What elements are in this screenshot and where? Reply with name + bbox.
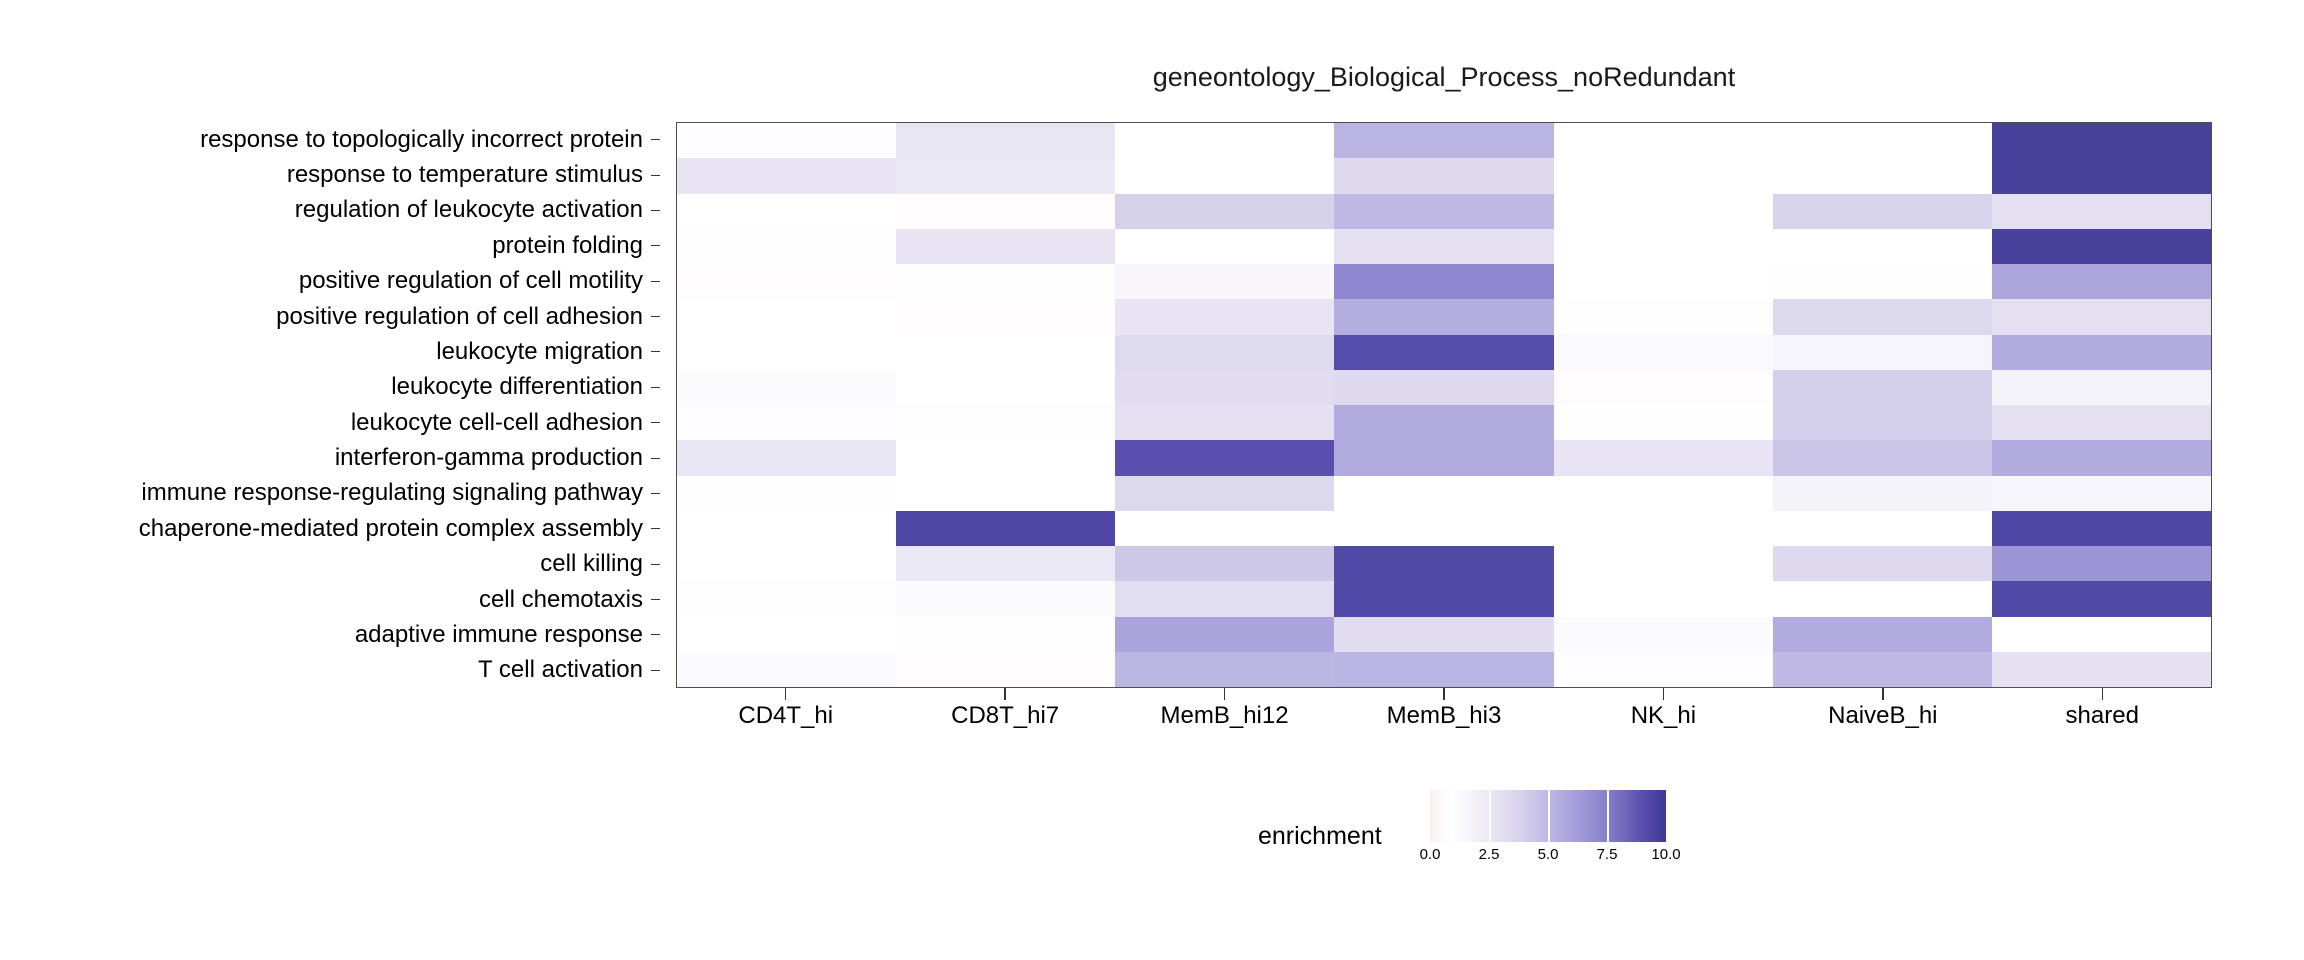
heatmap-cell[interactable] <box>1334 546 1553 581</box>
colorbar-separator <box>1489 790 1491 842</box>
x-tick-mark <box>785 688 786 700</box>
y-tick-mark <box>651 493 660 494</box>
x-tick-slot <box>1334 688 1553 700</box>
heatmap-cell[interactable] <box>1115 546 1334 581</box>
heatmap-cell[interactable] <box>1773 299 1992 334</box>
heatmap-cell[interactable] <box>1115 335 1334 370</box>
heatmap-cell[interactable] <box>896 581 1115 616</box>
heatmap-cell[interactable] <box>1992 405 2211 440</box>
heatmap-cell[interactable] <box>1992 123 2211 158</box>
heatmap-row <box>677 581 2211 616</box>
y-axis-row: regulation of leukocyte activation <box>0 193 660 228</box>
y-axis-label: positive regulation of cell motility <box>299 269 643 293</box>
heatmap-cell[interactable] <box>1115 440 1334 475</box>
heatmap-cell[interactable] <box>1115 194 1334 229</box>
heatmap-row <box>677 299 2211 334</box>
heatmap-cell[interactable] <box>677 581 896 616</box>
heatmap-cell[interactable] <box>677 546 896 581</box>
heatmap-cell[interactable] <box>1554 652 1773 687</box>
y-axis-label: chaperone-mediated protein complex assem… <box>139 517 643 541</box>
y-tick-mark <box>651 634 660 635</box>
legend: enrichment 0.02.55.07.510.0 <box>1258 790 1698 880</box>
y-tick-mark <box>651 316 660 317</box>
heatmap-cell[interactable] <box>1554 335 1773 370</box>
heatmap-cell[interactable] <box>1554 264 1773 299</box>
y-axis-row: leukocyte differentiation <box>0 370 660 405</box>
heatmap-row <box>677 264 2211 299</box>
heatmap-cell[interactable] <box>1992 476 2211 511</box>
page-title: geneontology_Biological_Process_noRedund… <box>676 62 2212 93</box>
heatmap-cell[interactable] <box>896 335 1115 370</box>
heatmap-cell[interactable] <box>1554 581 1773 616</box>
heatmap-cell[interactable] <box>677 511 896 546</box>
heatmap-cell[interactable] <box>1992 264 2211 299</box>
heatmap-cell[interactable] <box>677 229 896 264</box>
heatmap-cell[interactable] <box>1992 652 2211 687</box>
heatmap-cell[interactable] <box>1115 511 1334 546</box>
y-tick-mark <box>651 175 660 176</box>
heatmap-cell[interactable] <box>1334 511 1553 546</box>
heatmap-cell[interactable] <box>1334 335 1553 370</box>
x-tick-marks <box>676 688 2212 700</box>
heatmap-row <box>677 652 2211 687</box>
y-tick-mark <box>651 528 660 529</box>
colorbar-tick-label: 0.0 <box>1420 846 1441 863</box>
y-axis-label: cell killing <box>540 552 643 576</box>
x-axis: CD4T_hiCD8T_hi7MemB_hi12MemB_hi3NK_hiNai… <box>676 688 2212 748</box>
x-tick-mark <box>1663 688 1664 700</box>
heatmap-cell[interactable] <box>896 264 1115 299</box>
heatmap-cell[interactable] <box>1115 405 1334 440</box>
heatmap-cell[interactable] <box>1115 652 1334 687</box>
heatmap-cell[interactable] <box>1773 264 1992 299</box>
heatmap-cell[interactable] <box>896 229 1115 264</box>
heatmap-cell[interactable] <box>1773 370 1992 405</box>
heatmap-panel <box>676 122 2212 688</box>
heatmap-cell[interactable] <box>1334 299 1553 334</box>
x-tick-mark <box>2102 688 2103 700</box>
heatmap-cell[interactable] <box>896 158 1115 193</box>
x-tick-slot <box>1773 688 1992 700</box>
heatmap-cell[interactable] <box>1992 370 2211 405</box>
y-axis-label: regulation of leukocyte activation <box>295 198 643 222</box>
heatmap-cell[interactable] <box>1992 158 2211 193</box>
x-axis-label: MemB_hi12 <box>1115 702 1334 730</box>
y-axis-label: T cell activation <box>478 658 643 682</box>
heatmap-cell[interactable] <box>1334 229 1553 264</box>
heatmap-cell[interactable] <box>1773 123 1992 158</box>
heatmap-cell[interactable] <box>1334 476 1553 511</box>
heatmap-cell[interactable] <box>1773 229 1992 264</box>
heatmap-cell[interactable] <box>1334 405 1553 440</box>
heatmap-cell[interactable] <box>1554 370 1773 405</box>
y-tick-mark <box>651 670 660 671</box>
x-axis-label: shared <box>1993 702 2212 730</box>
y-tick-mark <box>651 599 660 600</box>
heatmap-cell[interactable] <box>677 476 896 511</box>
y-axis-row: leukocyte migration <box>0 334 660 369</box>
heatmap-row <box>677 370 2211 405</box>
heatmap-cell[interactable] <box>896 440 1115 475</box>
heatmap-cell[interactable] <box>1773 617 1992 652</box>
heatmap-row <box>677 229 2211 264</box>
colorbar-tick-label: 10.0 <box>1651 846 1680 863</box>
y-axis-row: chaperone-mediated protein complex assem… <box>0 511 660 546</box>
y-axis-label: interferon-gamma production <box>335 446 643 470</box>
colorbar-tick-labels: 0.02.55.07.510.0 <box>1430 846 1666 870</box>
y-tick-mark <box>651 387 660 388</box>
colorbar-tick-label: 7.5 <box>1597 846 1618 863</box>
y-tick-mark <box>651 422 660 423</box>
heatmap-cell[interactable] <box>1115 581 1334 616</box>
heatmap-cell[interactable] <box>1115 264 1334 299</box>
heatmap-row <box>677 546 2211 581</box>
heatmap-cell[interactable] <box>1992 229 2211 264</box>
y-tick-mark <box>651 210 660 211</box>
heatmap-cell[interactable] <box>1773 335 1992 370</box>
x-axis-label: NK_hi <box>1554 702 1773 730</box>
heatmap-cell[interactable] <box>1334 194 1553 229</box>
x-tick-mark <box>1004 688 1005 700</box>
heatmap-cell[interactable] <box>1992 335 2211 370</box>
colorbar <box>1430 790 1666 842</box>
heatmap-cell[interactable] <box>1115 299 1334 334</box>
heatmap-cell[interactable] <box>1554 158 1773 193</box>
x-axis-label: NaiveB_hi <box>1773 702 1992 730</box>
heatmap-cell[interactable] <box>1773 440 1992 475</box>
heatmap-cell[interactable] <box>1773 546 1992 581</box>
y-axis-row: response to topologically incorrect prot… <box>0 122 660 157</box>
y-axis-label: immune response-regulating signaling pat… <box>141 481 643 505</box>
y-axis-label: positive regulation of cell adhesion <box>276 305 643 329</box>
heatmap-cell[interactable] <box>1115 229 1334 264</box>
heatmap-cell[interactable] <box>1992 194 2211 229</box>
colorbar-tick-label: 5.0 <box>1538 846 1559 863</box>
y-axis-row: adaptive immune response <box>0 617 660 652</box>
heatmap-cell[interactable] <box>1115 123 1334 158</box>
y-axis-row: cell killing <box>0 547 660 582</box>
x-tick-mark <box>1443 688 1444 700</box>
colorbar-tick-label: 2.5 <box>1479 846 1500 863</box>
heatmap-cell[interactable] <box>1554 123 1773 158</box>
heatmap-row <box>677 194 2211 229</box>
heatmap-cell[interactable] <box>1992 617 2211 652</box>
x-tick-slot <box>676 688 895 700</box>
heatmap-cell[interactable] <box>896 617 1115 652</box>
y-axis-label: leukocyte migration <box>436 340 643 364</box>
x-axis-label: MemB_hi3 <box>1334 702 1553 730</box>
heatmap-cell[interactable] <box>677 370 896 405</box>
heatmap-cell[interactable] <box>1773 652 1992 687</box>
x-tick-mark <box>1882 688 1883 700</box>
heatmap-cell[interactable] <box>677 264 896 299</box>
y-axis-label: adaptive immune response <box>355 623 643 647</box>
heatmap-cell[interactable] <box>1115 617 1334 652</box>
heatmap-row <box>677 123 2211 158</box>
heatmap-cell[interactable] <box>1334 264 1553 299</box>
x-axis-label: CD8T_hi7 <box>895 702 1114 730</box>
heatmap-cell[interactable] <box>896 370 1115 405</box>
x-tick-mark <box>1224 688 1225 700</box>
heatmap-cell[interactable] <box>677 652 896 687</box>
heatmap-cell[interactable] <box>677 299 896 334</box>
heatmap-cell[interactable] <box>1554 229 1773 264</box>
y-tick-mark <box>651 564 660 565</box>
y-axis-label: response to temperature stimulus <box>287 163 643 187</box>
heatmap-cell[interactable] <box>1554 194 1773 229</box>
heatmap-row <box>677 335 2211 370</box>
heatmap-cell[interactable] <box>677 123 896 158</box>
legend-title: enrichment <box>1258 822 1382 851</box>
heatmap-cell[interactable] <box>896 299 1115 334</box>
heatmap-row <box>677 405 2211 440</box>
heatmap-cell[interactable] <box>677 158 896 193</box>
x-tick-slot <box>1993 688 2212 700</box>
heatmap-cell[interactable] <box>1334 617 1553 652</box>
heatmap-cell[interactable] <box>1773 511 1992 546</box>
heatmap-cell[interactable] <box>1554 299 1773 334</box>
heatmap-cell[interactable] <box>1115 476 1334 511</box>
y-axis-row: cell chemotaxis <box>0 582 660 617</box>
heatmap-cell[interactable] <box>1773 476 1992 511</box>
heatmap-cell[interactable] <box>896 546 1115 581</box>
heatmap-cell[interactable] <box>1334 652 1553 687</box>
heatmap-cell[interactable] <box>677 335 896 370</box>
heatmap-cell[interactable] <box>896 123 1115 158</box>
y-axis-row: interferon-gamma production <box>0 440 660 475</box>
heatmap-cell[interactable] <box>1992 440 2211 475</box>
heatmap-cell[interactable] <box>1334 370 1553 405</box>
heatmap-cell[interactable] <box>677 405 896 440</box>
heatmap-cell[interactable] <box>1992 511 2211 546</box>
y-axis-row: protein folding <box>0 228 660 263</box>
heatmap-cell[interactable] <box>1554 405 1773 440</box>
y-axis-label: leukocyte cell-cell adhesion <box>351 411 643 435</box>
y-tick-mark <box>651 245 660 246</box>
heatmap-cell[interactable] <box>1115 370 1334 405</box>
heatmap-row <box>677 511 2211 546</box>
y-axis-label: response to topologically incorrect prot… <box>200 128 643 152</box>
heatmap-cell[interactable] <box>1554 546 1773 581</box>
y-axis-row: response to temperature stimulus <box>0 157 660 192</box>
y-axis-row: T cell activation <box>0 653 660 688</box>
heatmap-cell[interactable] <box>1554 476 1773 511</box>
heatmap-cell[interactable] <box>896 194 1115 229</box>
y-tick-mark <box>651 281 660 282</box>
heatmap-cell[interactable] <box>1773 405 1992 440</box>
y-tick-mark <box>651 458 660 459</box>
y-axis-row: positive regulation of cell motility <box>0 264 660 299</box>
heatmap-cell[interactable] <box>1115 158 1334 193</box>
heatmap-cell[interactable] <box>1773 194 1992 229</box>
x-tick-slot <box>895 688 1114 700</box>
y-axis-row: immune response-regulating signaling pat… <box>0 476 660 511</box>
y-axis-label: protein folding <box>492 234 643 258</box>
heatmap-cell[interactable] <box>1334 581 1553 616</box>
heatmap-cell[interactable] <box>896 405 1115 440</box>
heatmap-cell[interactable] <box>1334 123 1553 158</box>
colorbar-separator <box>1607 790 1609 842</box>
heatmap-cell[interactable] <box>896 511 1115 546</box>
heatmap-cell[interactable] <box>896 652 1115 687</box>
y-axis-row: positive regulation of cell adhesion <box>0 299 660 334</box>
y-axis: response to topologically incorrect prot… <box>0 122 660 688</box>
heatmap-cell[interactable] <box>1334 158 1553 193</box>
heatmap-cell[interactable] <box>1773 158 1992 193</box>
heatmap-row <box>677 440 2211 475</box>
colorbar-separator <box>1548 790 1550 842</box>
y-axis-row: leukocyte cell-cell adhesion <box>0 405 660 440</box>
y-tick-mark <box>651 139 660 140</box>
heatmap-cell[interactable] <box>677 440 896 475</box>
x-tick-slot <box>1115 688 1334 700</box>
x-tick-slot <box>1554 688 1773 700</box>
heatmap-row <box>677 158 2211 193</box>
heatmap-cell[interactable] <box>677 194 896 229</box>
y-axis-label: leukocyte differentiation <box>391 375 643 399</box>
heatmap-cell[interactable] <box>1992 581 2211 616</box>
heatmap-grid <box>677 123 2211 687</box>
heatmap-cell[interactable] <box>1992 546 2211 581</box>
heatmap-cell[interactable] <box>896 476 1115 511</box>
heatmap-row <box>677 476 2211 511</box>
heatmap-cell[interactable] <box>1554 617 1773 652</box>
heatmap-cell[interactable] <box>1992 299 2211 334</box>
heatmap-cell[interactable] <box>1773 581 1992 616</box>
heatmap-cell[interactable] <box>1334 440 1553 475</box>
heatmap-row <box>677 617 2211 652</box>
y-axis-label: cell chemotaxis <box>479 588 643 612</box>
y-tick-mark <box>651 351 660 352</box>
x-axis-label: CD4T_hi <box>676 702 895 730</box>
heatmap-cell[interactable] <box>1554 440 1773 475</box>
heatmap-cell[interactable] <box>677 617 896 652</box>
heatmap-cell[interactable] <box>1554 511 1773 546</box>
x-tick-labels: CD4T_hiCD8T_hi7MemB_hi12MemB_hi3NK_hiNai… <box>676 702 2212 730</box>
